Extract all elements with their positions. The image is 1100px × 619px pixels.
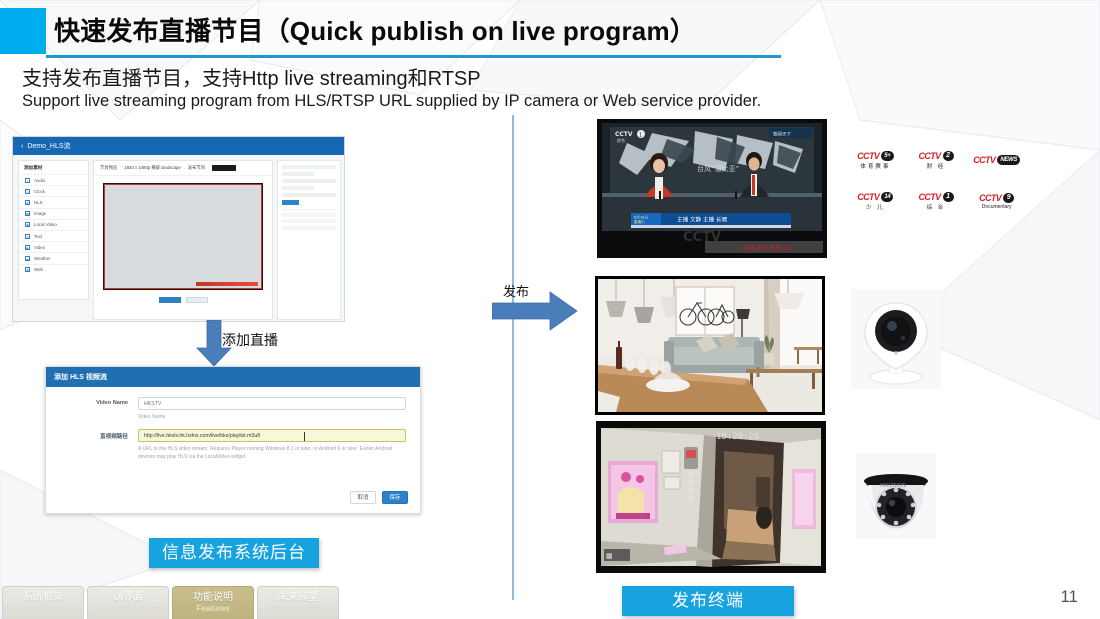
cms-table-header [282,213,336,217]
cms-item-web[interactable]: ◉Web [19,264,88,275]
nav-tab-label-en: System Architecture [5,604,81,613]
svg-text:朝闻天下: 朝闻天下 [773,131,791,138]
publish-terminal-label: 发布终端 [622,586,794,616]
living-room-image [598,279,822,412]
bottom-nav-tabs: 系统框架 System Architecture UI界面 UI Theme D… [2,586,339,619]
svg-text:台风“温比亚”: 台风“温比亚” [697,164,739,173]
nav-tab-system-architecture[interactable]: 系统框架 System Architecture [2,586,84,619]
add-hls-dialog[interactable]: 添加 HLS 视频流 close-icon Video Name HKSTV V… [45,366,421,514]
cms-cancel-button[interactable] [186,297,208,303]
cms-prop-row [282,165,336,169]
nav-tab-future-roadmap[interactable]: 未来展望 Future Roadmap [257,586,339,619]
cctv-brand: CCTV [857,192,879,202]
cms-item-label: Web [34,267,43,272]
cctv-logo-2: CCTV2 财 经 [907,141,966,180]
cms-item-label: Image [34,211,46,216]
cms-prop-row [282,172,314,176]
cctv-brand: CCTV [918,151,940,161]
cctv-channel-number: 2 [943,151,954,161]
cms-program-label: 节目预览 [100,165,117,171]
cms-item-video[interactable]: ▶Video [19,241,88,252]
cms-table-row[interactable] [282,219,336,223]
cancel-button[interactable]: 取消 [350,491,376,504]
cms-item-image[interactable]: ▦Image [19,208,88,219]
cms-material-panel: 添加素材 ♪Audio ◷Clock ▤HLS ▦Image ▣Local Vi… [18,160,89,300]
cctv-news-image: 台风“温比亚” CCTV 1 综合 朝闻天下 8月18日 星期六 主播 文静 [597,119,827,258]
save-button[interactable]: 保存 [382,491,408,504]
cms-window-title: Demo_HLS流 [27,141,70,151]
nav-tab-label-en: Future Roadmap [266,604,330,613]
cms-toolbar: 节目预览 1920 x 1080p 横屏 landscape 发布节目 [94,161,272,176]
video-name-field-row: Video Name HKSTV [60,397,406,410]
cctv-channel-sub: Documentary [982,204,1012,210]
subtitle-cn: 支持发布直播节目，支持Http live streaming和RTSP [22,62,481,91]
svg-text:HIKVISION: HIKVISION [880,483,906,489]
svg-text:18:20:26: 18:20:26 [716,432,759,442]
page-number: 11 [1060,587,1078,607]
subtitle-en: Support live streaming program from HLS/… [22,92,761,111]
text-icon: A [25,234,30,239]
stream-url-hint: A URL to the HLS video stream. Requires … [60,446,406,462]
nav-tab-label-en: Features [196,604,230,613]
cms-editor-panel: 节目预览 1920 x 1080p 横屏 landscape 发布节目 [93,160,273,320]
dialog-titlebar: 添加 HLS 视频流 close-icon [46,367,420,387]
cms-properties-panel [277,160,341,320]
nav-tab-features[interactable]: 功能说明 Features [172,586,254,619]
video-frame-living-room [595,276,825,415]
svg-text:星期六: 星期六 [634,219,645,224]
cms-backend-label: 信息发布系统后台 [149,538,319,568]
video-frame-elevator-cam: 18:20:26 ▦ [596,421,826,573]
svg-text:综合: 综合 [617,137,625,143]
cms-preview-canvas[interactable] [104,184,262,289]
cctv-logo-news: CCTVNEWS [967,141,1026,180]
dialog-footer: 取消 保存 [350,491,408,504]
clock-icon: ◷ [25,189,30,194]
dialog-title: 添加 HLS 视频流 [54,372,107,382]
video-icon: ▶ [25,245,30,250]
page-title: 快速发布直播节目（Quick publish on live program） [54,11,696,48]
cms-resolution-label: 1920 x 1080p 横屏 landscape [124,165,181,171]
nav-tab-label-en: UI Theme Design [95,604,161,613]
cms-item-local-video[interactable]: ▣Local Video [19,219,88,230]
cctv-brand: CCTV [918,192,940,202]
cms-item-audio[interactable]: ♪Audio [19,174,88,185]
cms-titlebar: ‹ Demo_HLS流 [13,137,345,155]
elevator-surveillance-image: 18:20:26 ▦ [596,421,826,573]
cctv-logo-14: CCTV14 少 儿 [846,182,905,221]
cms-table-row[interactable] [282,226,336,230]
webcam-icon [851,289,941,389]
svg-text:1: 1 [639,133,642,139]
cms-canvas-ticker [196,282,258,286]
video-name-input[interactable]: HKSTV [138,397,406,410]
add-live-caption: 添加直播 [222,330,278,350]
cctv-channel-sub: 综 合 [927,203,946,211]
cms-panel-title: 添加素材 [19,161,88,174]
cctv-channel-number: 14 [881,192,893,202]
dialog-body: Video Name HKSTV Video Name 直视频路径 http:/… [46,387,420,461]
cms-prop-row [282,179,336,183]
cctv-logo-9: CCTV9 Documentary [967,182,1026,221]
cms-item-label: Local Video [34,222,57,227]
cms-item-text[interactable]: AText [19,230,88,241]
cms-item-label: Text [34,234,42,239]
nav-tab-ui-theme-design[interactable]: UI界面 UI Theme Design [87,586,169,619]
chevron-left-icon[interactable]: ‹ [21,143,23,150]
slide-title-band: 快速发布直播节目（Quick publish on live program） [0,8,1100,54]
cms-prop-row [282,193,336,197]
cloud-icon: ☁ [25,256,30,261]
arrow-right-icon [492,291,578,331]
stream-url-field-row: 直视频路径 http://live.hkstv.hk.lxdns.com/liv… [60,429,406,442]
device-dome-camera: HIKVISION [856,453,936,539]
svg-text:▦: ▦ [606,552,613,560]
cms-item-clock[interactable]: ◷Clock [19,185,88,196]
cctv-channel-number: 5+ [881,151,893,161]
image-icon: ▦ [25,211,30,216]
cms-toolbar-block [212,165,236,171]
cms-software-screenshot[interactable]: ‹ Demo_HLS流 添加素材 ♪Audio ◷Clock ▤HLS ▦Ima… [12,136,345,322]
cctv-brand: CCTV [979,193,1001,203]
cms-item-label: Audio [34,178,45,183]
device-ip-camera [851,289,941,389]
cctv-brand: CCTV [857,151,879,161]
stream-icon: ▤ [25,200,30,205]
svg-text:CCTV: CCTV [615,131,633,138]
video-file-icon: ▣ [25,222,30,227]
cctv-logo-5plus: CCTV5+ 体育赛事 [846,141,905,180]
title-underline [46,55,781,58]
cms-editor-footer [94,297,272,303]
music-note-icon: ♪ [25,178,30,183]
stream-url-label: 直视频路径 [60,429,138,440]
cctv-channel-number: NEWS [997,155,1020,165]
title-accent-block [0,8,46,54]
svg-text:信息发布系统-20: 信息发布系统-20 [742,244,792,252]
dome-camera-icon: HIKVISION [856,453,936,539]
cms-hls-table [282,209,336,230]
svg-text:8月18日: 8月18日 [634,215,648,220]
cms-prop-row [282,186,314,190]
cctv-logo-1: CCTV1 综 合 [907,182,966,221]
cctv-channel-number: 9 [1003,193,1014,203]
cctv-channel-sub: 少 儿 [866,203,885,211]
globe-icon: ◉ [25,267,30,272]
stream-url-input[interactable]: http://live.hkstv.hk.lxdns.com/live/hks/… [138,429,406,442]
cms-item-label: Weather [34,256,51,261]
svg-text:主播 文静 主播 长啸: 主播 文静 主播 长啸 [677,216,727,224]
cms-item-label: HLS [34,200,43,205]
cctv-channel-sub: 财 经 [927,162,946,170]
cms-item-label: Video [34,245,45,250]
cms-save-button[interactable] [159,297,181,303]
cctv-channel-sub: 体育赛事 [860,162,890,170]
cms-item-label: Clock [34,189,45,194]
section-divider [512,115,514,600]
video-frame-cctv-news: 台风“温比亚” CCTV 1 综合 朝闻天下 8月18日 星期六 主播 文静 [597,119,827,258]
cms-publish-label[interactable]: 发布节目 [188,165,205,171]
cctv-brand: CCTV [973,155,995,165]
cctv-logo-grid: CCTV5+ 体育赛事 CCTV2 财 经 CCTVNEWS CCTV14 少 … [846,141,1026,221]
video-name-label: Video Name [60,397,138,406]
cctv-channel-number: 1 [943,192,954,202]
cms-item-weather[interactable]: ☁Weather [19,252,88,263]
cms-item-hls[interactable]: ▤HLS [19,196,88,207]
video-name-hint: Video Name [60,414,406,422]
cms-add-button[interactable] [282,200,299,205]
